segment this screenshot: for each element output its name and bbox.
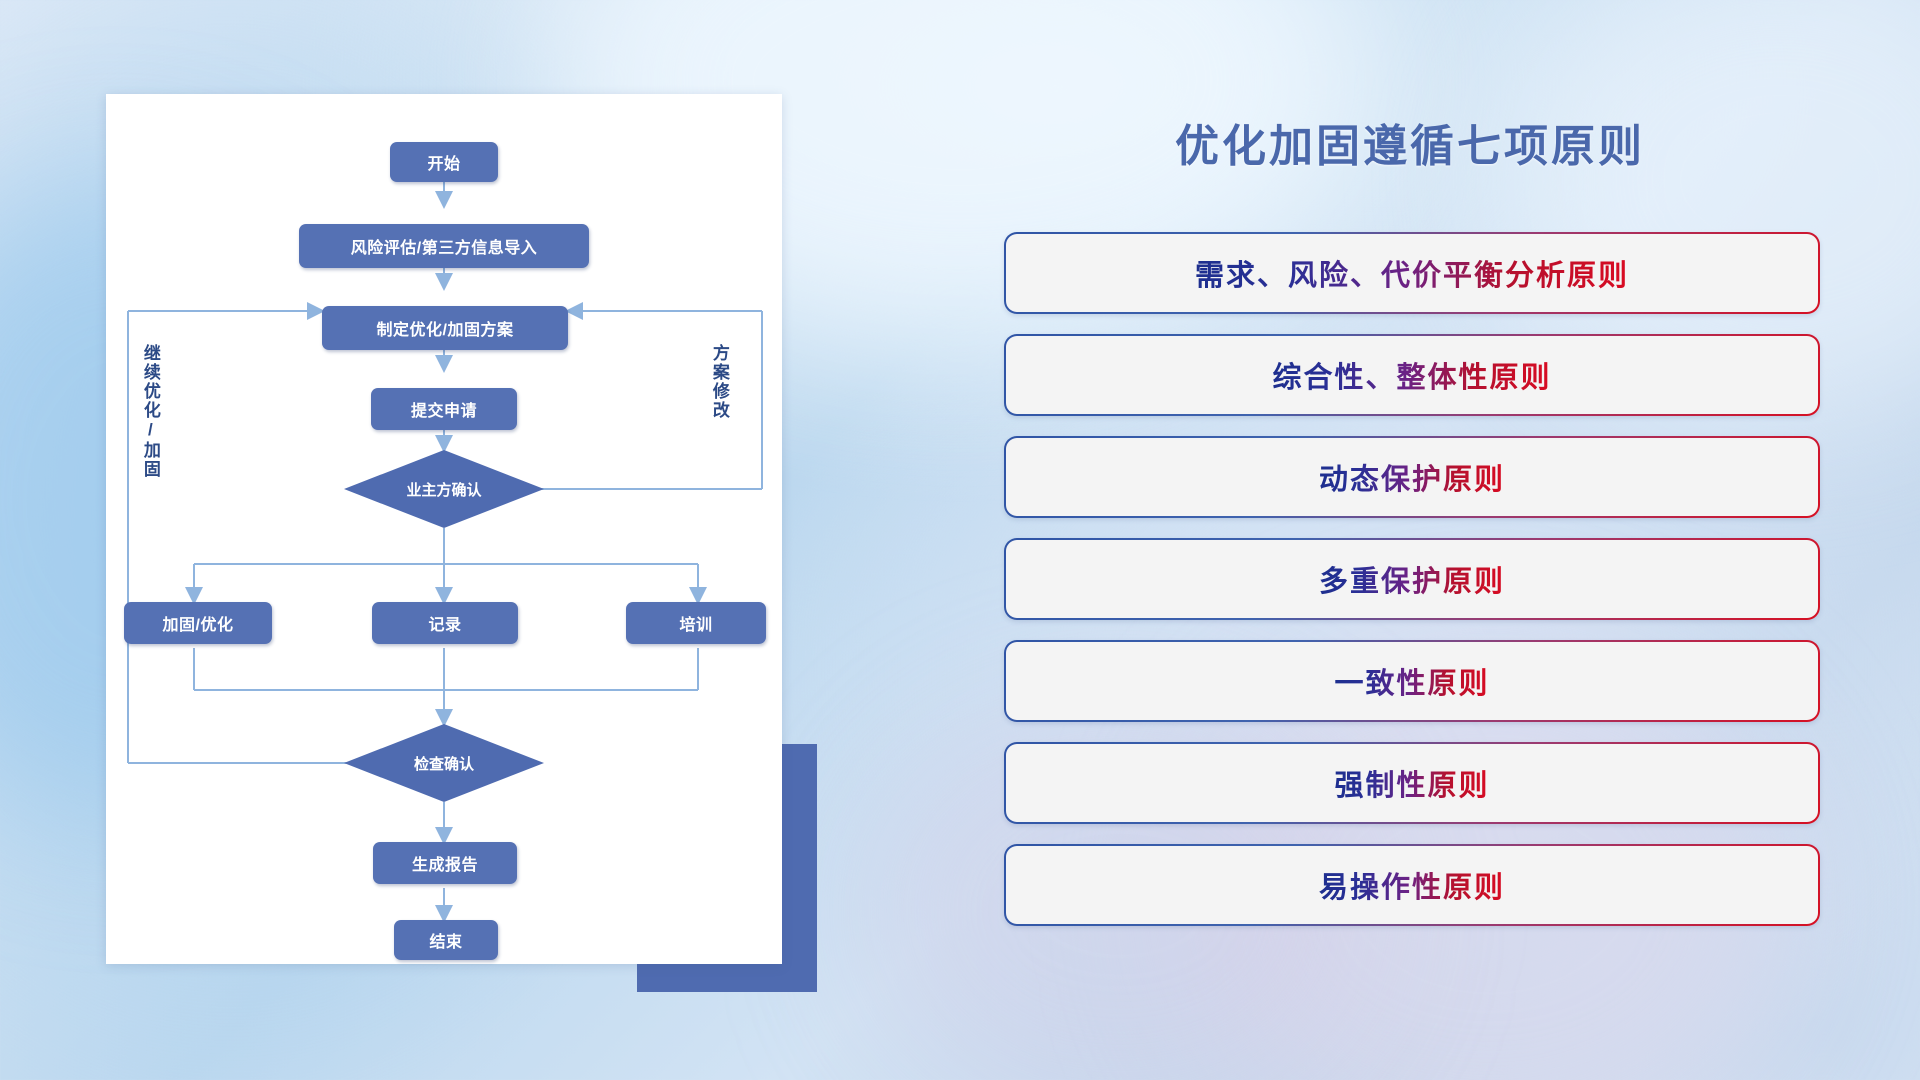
principle-card-inner: 动态保护原则 (1006, 438, 1818, 516)
flow-node-plan[interactable]: 制定优化/加固方案 (322, 306, 568, 350)
flow-node-end-label: 结束 (429, 928, 462, 952)
flow-node-record[interactable]: 记录 (372, 602, 518, 644)
principle-card[interactable]: 综合性、整体性原则 (1004, 334, 1820, 416)
flowchart-panel: 开始 风险评估/第三方信息导入 制定优化/加固方案 提交申请 业主方确认 加固/… (0, 0, 880, 1080)
flow-node-submit-label: 提交申请 (411, 397, 477, 421)
flow-node-report[interactable]: 生成报告 (373, 842, 517, 884)
principle-label: 易操作性原则 (1319, 864, 1505, 906)
flow-node-report-label: 生成报告 (412, 851, 478, 875)
principles-title: 优化加固遵循七项原则 (980, 110, 1840, 174)
flow-node-training-label: 培训 (679, 611, 712, 635)
flow-node-reinforce[interactable]: 加固/优化 (124, 602, 272, 644)
flow-edge-label-continue-optimize: 继续优化/加固 (141, 344, 159, 479)
principle-label: 一致性原则 (1334, 660, 1489, 702)
principle-card[interactable]: 需求、风险、代价平衡分析原则 (1004, 232, 1820, 314)
principle-card[interactable]: 动态保护原则 (1004, 436, 1820, 518)
principle-label: 多重保护原则 (1319, 558, 1505, 600)
principle-card[interactable]: 多重保护原则 (1004, 538, 1820, 620)
flow-decision-owner-confirm-label: 业主方确认 (406, 479, 481, 500)
flow-node-submit[interactable]: 提交申请 (371, 388, 517, 430)
flow-node-end[interactable]: 结束 (394, 920, 498, 960)
principle-label: 综合性、整体性原则 (1272, 354, 1551, 396)
flowchart-card: 开始 风险评估/第三方信息导入 制定优化/加固方案 提交申请 业主方确认 加固/… (106, 94, 782, 964)
principle-card[interactable]: 一致性原则 (1004, 640, 1820, 722)
flow-node-reinforce-label: 加固/优化 (163, 611, 234, 635)
principle-card-inner: 综合性、整体性原则 (1006, 336, 1818, 414)
flow-node-start[interactable]: 开始 (390, 142, 498, 182)
flow-node-risk-assessment-label: 风险评估/第三方信息导入 (351, 234, 537, 258)
principles-panel: 优化加固遵循七项原则 需求、风险、代价平衡分析原则 综合性、整体性原则 动态保护… (980, 0, 1920, 1080)
flow-node-record-label: 记录 (428, 611, 461, 635)
principle-card-inner: 一致性原则 (1006, 642, 1818, 720)
principles-list: 需求、风险、代价平衡分析原则 综合性、整体性原则 动态保护原则 多重保护原则 一… (1004, 232, 1820, 946)
principle-card-inner: 易操作性原则 (1006, 846, 1818, 924)
principle-card-inner: 强制性原则 (1006, 744, 1818, 822)
flow-node-risk-assessment[interactable]: 风险评估/第三方信息导入 (299, 224, 589, 268)
principle-card-inner: 需求、风险、代价平衡分析原则 (1006, 234, 1818, 312)
flow-edge-label-plan-revision: 方案修改 (710, 344, 728, 420)
flow-node-plan-label: 制定优化/加固方案 (377, 316, 514, 340)
principle-card[interactable]: 易操作性原则 (1004, 844, 1820, 926)
flow-node-training[interactable]: 培训 (626, 602, 766, 644)
principle-card[interactable]: 强制性原则 (1004, 742, 1820, 824)
principle-card-inner: 多重保护原则 (1006, 540, 1818, 618)
principle-label: 需求、风险、代价平衡分析原则 (1195, 252, 1629, 294)
principle-label: 动态保护原则 (1319, 456, 1505, 498)
principle-label: 强制性原则 (1334, 762, 1489, 804)
flow-decision-inspection-label: 检查确认 (414, 753, 474, 774)
flow-node-start-label: 开始 (427, 150, 460, 174)
